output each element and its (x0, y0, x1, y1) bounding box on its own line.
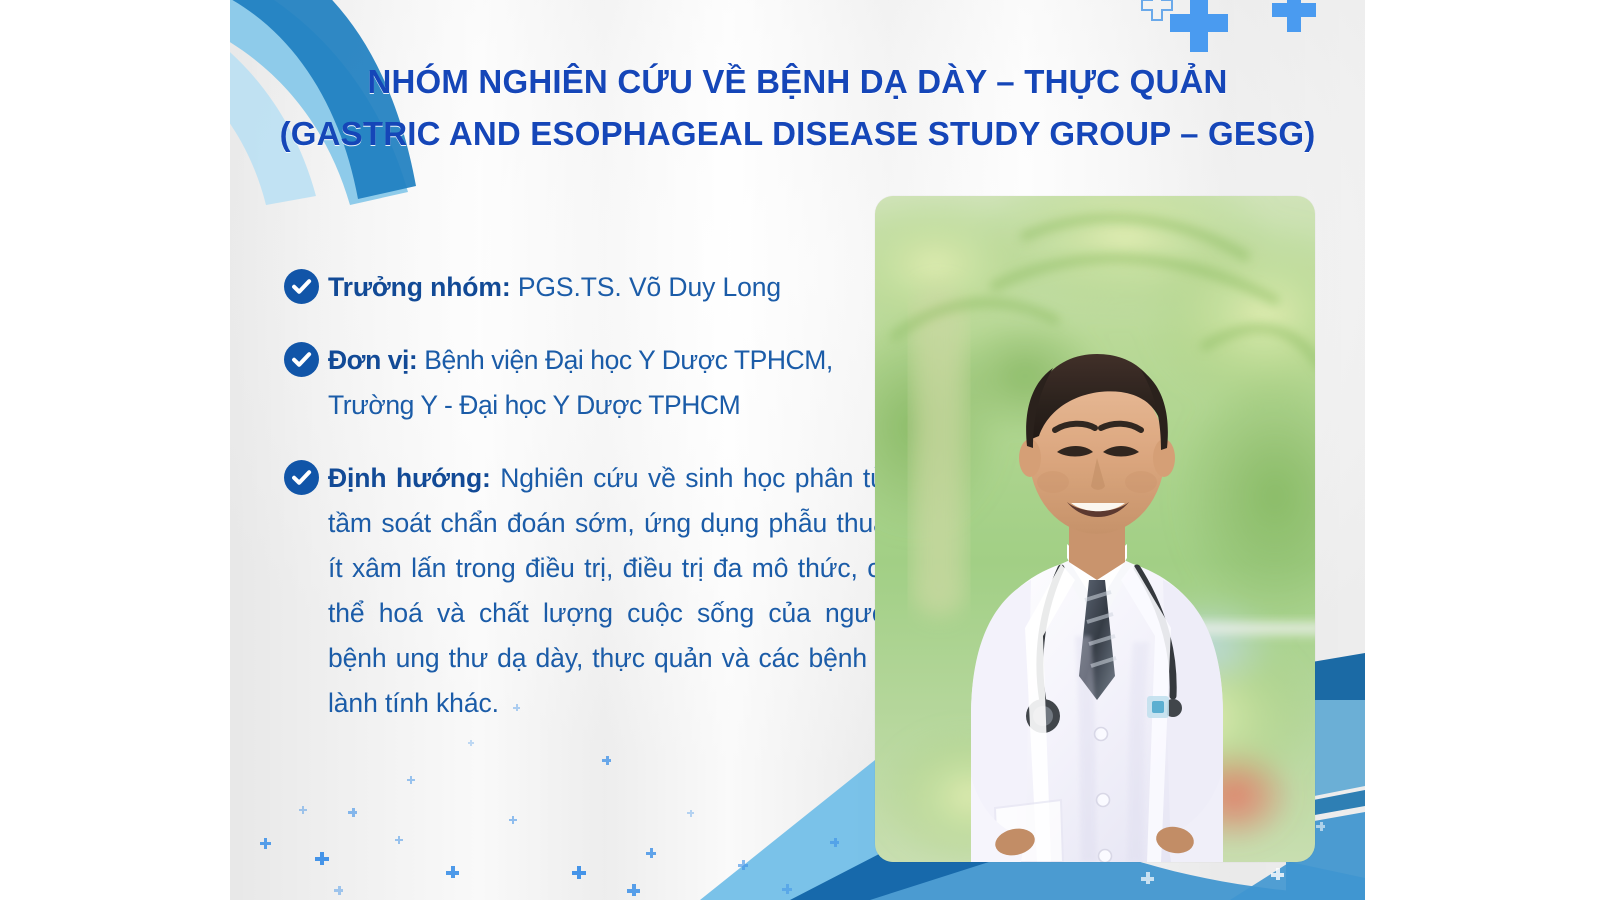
check-circle-icon (284, 460, 319, 495)
poster-canvas: NHÓM NGHIÊN CỨU VỀ BỆNH DẠ DÀY – THỰC QU… (230, 0, 1365, 900)
list-item: Định hướng: Nghiên cứu về sinh học phân … (250, 456, 895, 726)
bullet-value: Nghiên cứu về sinh học phân tử, tầm soát… (328, 463, 895, 718)
cross-filled-large-icon (1168, 0, 1230, 54)
bullet-text: Đơn vị: Bệnh viện Đại học Y Dược TPHCM, … (328, 338, 895, 428)
cross-filled-medium-icon (1270, 0, 1318, 34)
check-circle-icon (284, 342, 319, 377)
title-line-vietnamese: NHÓM NGHIÊN CỨU VỀ BỆNH DẠ DÀY – THỰC QU… (230, 56, 1365, 108)
bullet-label: Định hướng: (328, 463, 491, 493)
bullet-list: Trưởng nhóm: PGS.TS. Võ Duy Long Đơn vị:… (250, 265, 895, 726)
bullet-label: Trưởng nhóm: (328, 272, 511, 302)
doctor-portrait-photo (875, 196, 1315, 862)
title-line-english: (GASTRIC AND ESOPHAGEAL DISEASE STUDY GR… (230, 108, 1365, 160)
bullet-label: Đơn vị: (328, 345, 417, 375)
list-item: Đơn vị: Bệnh viện Đại học Y Dược TPHCM, … (250, 338, 895, 428)
poster-stage: NHÓM NGHIÊN CỨU VỀ BỆNH DẠ DÀY – THỰC QU… (0, 0, 1600, 900)
bullet-value: PGS.TS. Võ Duy Long (511, 272, 782, 302)
page-title: NHÓM NGHIÊN CỨU VỀ BỆNH DẠ DÀY – THỰC QU… (230, 56, 1365, 160)
list-item: Trưởng nhóm: PGS.TS. Võ Duy Long (250, 265, 895, 310)
bullet-text: Định hướng: Nghiên cứu về sinh học phân … (328, 456, 895, 726)
bullet-text: Trưởng nhóm: PGS.TS. Võ Duy Long (328, 265, 895, 310)
check-circle-icon (284, 269, 319, 304)
